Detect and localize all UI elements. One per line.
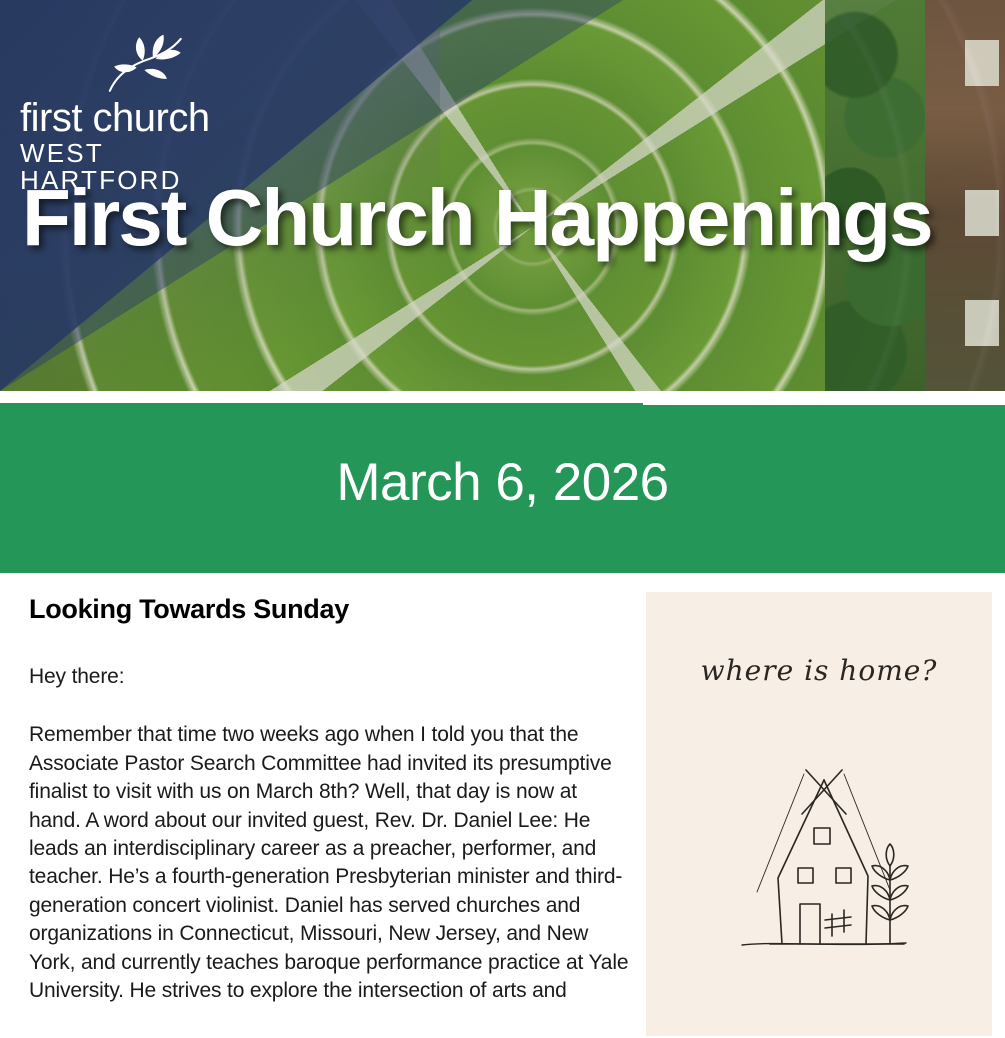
church-logo: first church WEST HARTFORD: [20, 32, 260, 195]
leaf-branch-icon: [108, 32, 186, 96]
issue-date: March 6, 2026: [0, 456, 1005, 509]
date-band: March 6, 2026: [0, 403, 1005, 573]
article-column: Looking Towards Sunday Hey there: Rememb…: [29, 594, 629, 1006]
house-with-plant-line-drawing: [694, 762, 944, 992]
page-title: Looking Towards Sunday: [29, 594, 629, 625]
logo-wordmark: first church: [20, 98, 260, 138]
hero-banner: first church WEST HARTFORD First Church …: [0, 0, 1005, 391]
content-area: Looking Towards Sunday Hey there: Rememb…: [0, 573, 1005, 1038]
article-paragraph: Remember that time two weeks ago when I …: [29, 721, 629, 1005]
illustration-card: where is home?: [646, 592, 992, 1036]
article-greeting: Hey there:: [29, 663, 629, 691]
illustration-caption: where is home?: [646, 654, 992, 687]
hero-divider-gap: [0, 391, 1005, 403]
hero-title: First Church Happenings: [22, 178, 985, 258]
